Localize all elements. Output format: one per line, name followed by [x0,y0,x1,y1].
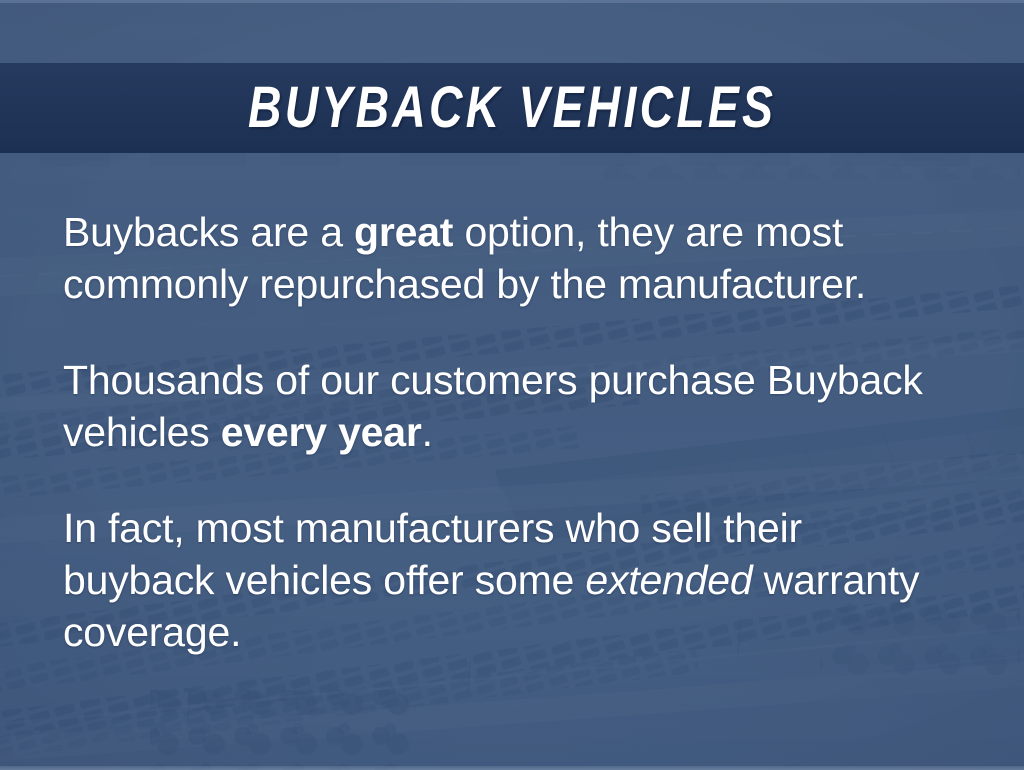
body-copy: Buybacks are a great option, they are mo… [63,206,993,658]
top-edge-line [0,0,1024,3]
text-run-bold: every year [221,409,422,455]
paragraph-1: Buybacks are a great option, they are mo… [63,206,963,310]
text-run-italic: extended [585,557,752,603]
slide-canvas: BUYBACK VEHICLES Buybacks are a great op… [0,0,1024,770]
bottom-edge-line [0,766,1024,770]
text-run-normal: Buybacks are a [63,209,354,255]
text-run-normal: . [422,409,433,455]
title-band: BUYBACK VEHICLES [0,63,1024,153]
text-run-bold: great [354,209,453,255]
text-run-normal: Thousands of our customers purchase Buyb… [63,357,923,455]
slide-title: BUYBACK VEHICLES [248,79,776,137]
paragraph-2: Thousands of our customers purchase Buyb… [63,354,963,458]
paragraph-3: In fact, most manufacturers who sell the… [63,502,963,658]
